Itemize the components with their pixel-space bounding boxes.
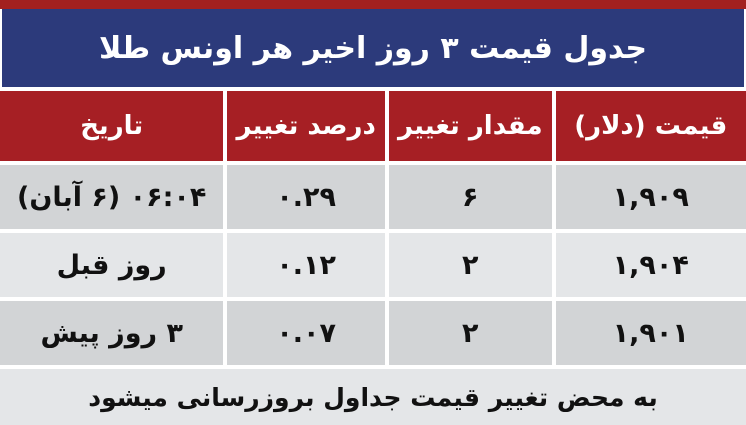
column-header-amount: مقدار تغییر <box>389 91 552 161</box>
table-row: ۱,۹۰۹ ۶ ۰.۲۹ ۰۶:۰۴ (۶ آبان) <box>0 165 746 229</box>
cell-date: ۰۶:۰۴ (۶ آبان) <box>0 165 223 229</box>
column-header-price: قیمت (دلار) <box>556 91 746 161</box>
top-red-rule <box>0 0 746 9</box>
table-footer-row: به محض تغییر قیمت جداول بروزرسانی میشود <box>0 369 746 425</box>
table-row: ۱,۹۰۱ ۲ ۰.۰۷ ۳ روز پیش <box>0 301 746 365</box>
cell-amount: ۶ <box>389 165 552 229</box>
footer-note: به محض تغییر قیمت جداول بروزرسانی میشود <box>0 369 746 425</box>
title-banner: جدول قیمت ۳ روز اخیر هر اونس طلا <box>2 9 744 87</box>
cell-amount: ۲ <box>389 301 552 365</box>
cell-date: ۳ روز پیش <box>0 301 223 365</box>
page-title: جدول قیمت ۳ روز اخیر هر اونس طلا <box>99 32 647 65</box>
cell-percent: ۰.۰۷ <box>227 301 385 365</box>
cell-percent: ۰.۲۹ <box>227 165 385 229</box>
gold-price-table-page: جدول قیمت ۳ روز اخیر هر اونس طلا اقتصادن… <box>0 0 746 425</box>
cell-amount: ۲ <box>389 233 552 297</box>
cell-percent: ۰.۱۲ <box>227 233 385 297</box>
cell-price: ۱,۹۰۹ <box>556 165 746 229</box>
cell-date: روز قبل <box>0 233 223 297</box>
table-header-row: قیمت (دلار) مقدار تغییر درصد تغییر تاریخ <box>0 91 746 161</box>
cell-price: ۱,۹۰۴ <box>556 233 746 297</box>
column-header-percent: درصد تغییر <box>227 91 385 161</box>
column-header-date: تاریخ <box>0 91 223 161</box>
price-table: قیمت (دلار) مقدار تغییر درصد تغییر تاریخ… <box>0 91 746 425</box>
table-row: ۱,۹۰۴ ۲ ۰.۱۲ روز قبل <box>0 233 746 297</box>
cell-price: ۱,۹۰۱ <box>556 301 746 365</box>
